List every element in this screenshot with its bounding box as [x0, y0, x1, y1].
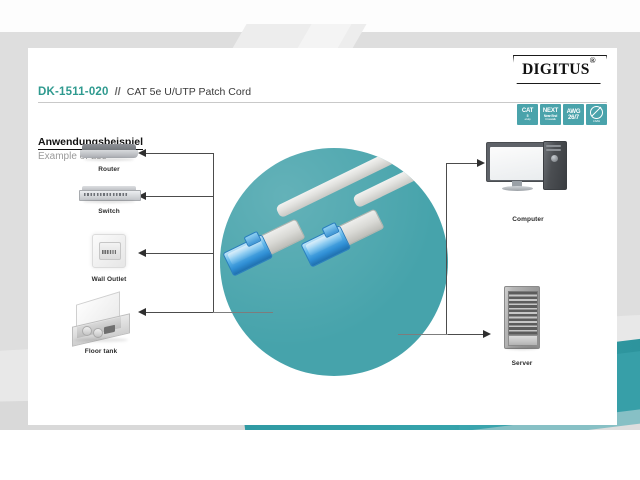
floor-tank-icon	[70, 298, 132, 344]
computer-label: Computer	[486, 216, 570, 223]
application-diagram: Router Switch Wall Outlet Floor tank	[28, 48, 617, 425]
device-wall-outlet	[92, 234, 126, 268]
computer-icon	[486, 140, 570, 192]
floor-tank-label: Floor tank	[70, 348, 132, 355]
arrow-floor-tank	[138, 308, 146, 316]
wall-outlet-label: Wall Outlet	[72, 276, 146, 283]
product-photo-circle	[220, 148, 448, 376]
switch-label: Switch	[79, 208, 139, 215]
wall-outlet-icon	[92, 234, 126, 268]
device-server	[504, 286, 540, 349]
right-branch-server	[446, 334, 484, 335]
left-branch-router	[146, 153, 214, 154]
background-bottom-strip	[0, 430, 640, 480]
left-trunk-to-circle	[213, 312, 273, 313]
router-icon	[80, 144, 138, 160]
device-floor-tank	[70, 298, 132, 344]
left-branch-wall-outlet	[146, 253, 214, 254]
arrow-computer	[477, 159, 485, 167]
left-branch-switch	[146, 196, 214, 197]
device-computer	[486, 140, 570, 192]
content-card: DIGITUS® DK-1511-020 // CAT 5e U/UTP Pat…	[28, 48, 617, 425]
device-switch	[79, 186, 139, 203]
router-label: Router	[80, 166, 138, 173]
arrow-router	[138, 149, 146, 157]
server-icon	[504, 286, 540, 349]
circle-to-right-trunk	[398, 334, 448, 335]
arrow-wall-outlet	[138, 249, 146, 257]
slide-canvas: DIGITUS® DK-1511-020 // CAT 5e U/UTP Pat…	[0, 0, 640, 480]
left-branch-floor-tank	[146, 312, 214, 313]
right-trunk-line	[446, 163, 447, 335]
switch-icon	[79, 186, 139, 203]
left-trunk-line	[213, 153, 214, 313]
arrow-server	[483, 330, 491, 338]
right-branch-computer	[446, 163, 478, 164]
server-label: Server	[492, 360, 552, 367]
device-router	[80, 144, 138, 160]
